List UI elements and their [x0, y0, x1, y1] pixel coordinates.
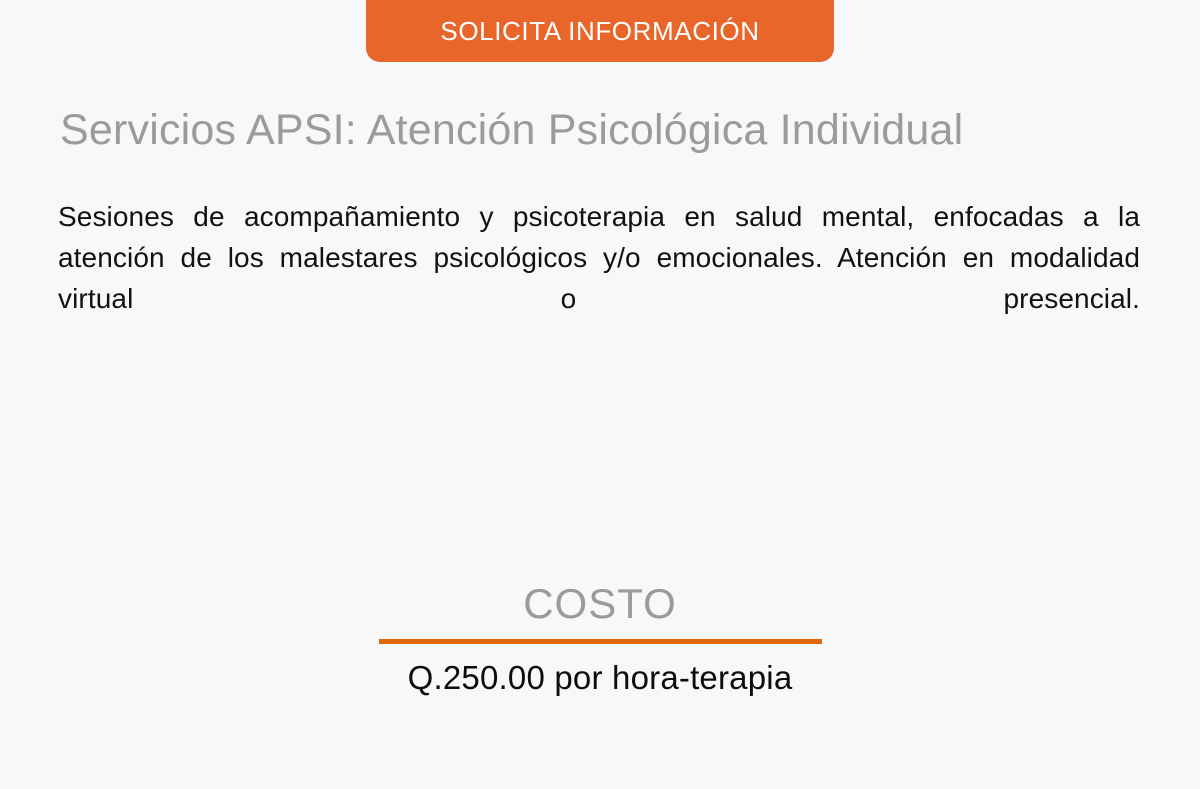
cta-banner: SOLICITA INFORMACIÓN — [0, 0, 1200, 66]
service-description: Sesiones de acompañamiento y psicoterapi… — [58, 196, 1140, 360]
solicita-informacion-button[interactable]: SOLICITA INFORMACIÓN — [366, 0, 834, 62]
cost-heading: COSTO — [0, 578, 1200, 630]
cost-amount: Q.250.00 por hora-terapia — [0, 656, 1200, 700]
cost-section: COSTO Q.250.00 por hora-terapia — [0, 578, 1200, 700]
page-title: Servicios APSI: Atención Psicológica Ind… — [60, 100, 1140, 160]
cost-divider — [379, 639, 822, 644]
page-root: SOLICITA INFORMACIÓN Servicios APSI: Ate… — [0, 0, 1200, 789]
